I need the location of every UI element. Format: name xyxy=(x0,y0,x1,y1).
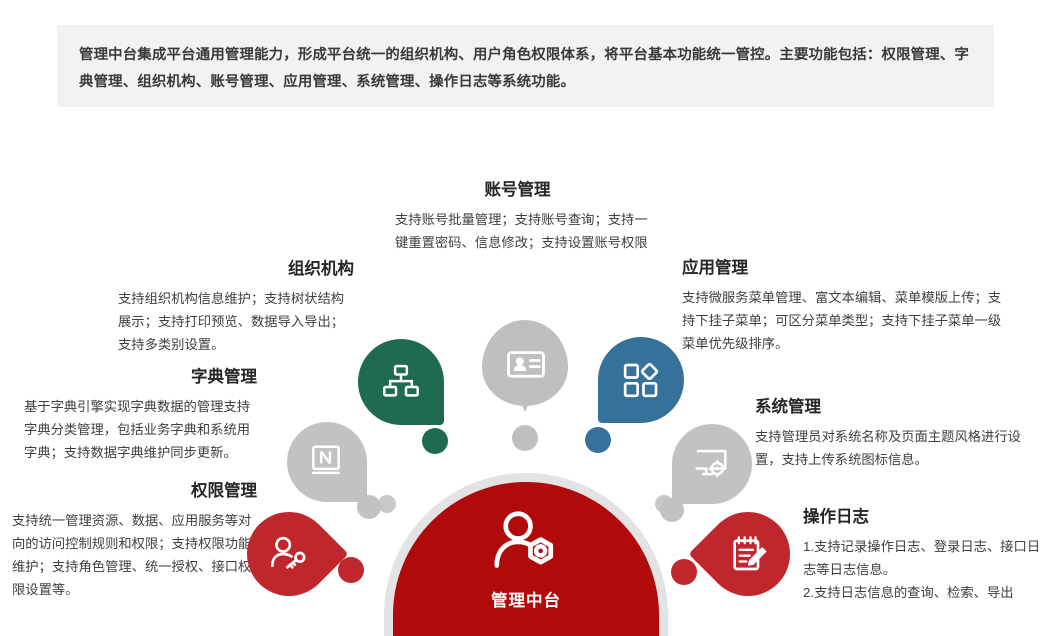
center-label: 管理中台 xyxy=(384,587,668,611)
pin-dict[interactable] xyxy=(287,422,367,502)
module-text-account: 账号管理 支持账号批量管理；支持账号查询；支持一键重置密码、信息修改；支持设置账… xyxy=(385,178,650,254)
module-body-log-line1: 1.支持记录操作日志、登录日志、接口日志等日志信息。 xyxy=(803,535,1049,581)
module-body-dict: 基于字典引擎实现字典数据的管理支持字典分类管理，包括业务字典和系统用字典；支持数… xyxy=(12,395,257,464)
module-title-log: 操作日志 xyxy=(803,505,1049,529)
module-text-perm: 权限管理 支持统一管理资源、数据、应用服务等对向的访问控制规则和权限；支持权限功… xyxy=(12,479,257,601)
module-text-app: 应用管理 支持微服务菜单管理、富文本编辑、菜单模版上传；支持下挂子菜单；可区分菜… xyxy=(682,256,1002,355)
module-body-system: 支持管理员对系统名称及页面主题风格进行设置，支持上传系统图标信息。 xyxy=(755,425,1035,471)
apps-grid-icon xyxy=(621,360,661,400)
module-title-dict: 字典管理 xyxy=(12,365,257,389)
module-text-system: 系统管理 支持管理员对系统名称及页面主题风格进行设置，支持上传系统图标信息。 xyxy=(755,395,1035,471)
notepad-pencil-icon xyxy=(728,534,768,574)
infographic-page: 管理中台集成平台通用管理能力，形成平台统一的组织机构、用户角色权限体系，将平台基… xyxy=(0,0,1051,636)
module-body-log-line2: 2.支持日志信息的查询、检索、导出 xyxy=(803,581,1049,604)
pin-account[interactable] xyxy=(482,320,568,406)
module-title-app: 应用管理 xyxy=(682,256,1002,280)
org-tree-icon xyxy=(381,362,421,402)
book-icon xyxy=(307,442,347,482)
user-key-icon xyxy=(269,534,309,574)
module-title-perm: 权限管理 xyxy=(12,479,257,503)
module-body-account: 支持账号批量管理；支持账号查询；支持一键重置密码、信息修改；支持设置账号权限 xyxy=(385,208,650,254)
module-body-perm: 支持统一管理资源、数据、应用服务等对向的访问控制规则和权限；支持权限功能维护；支… xyxy=(12,509,257,601)
pin-dot-perm xyxy=(338,557,364,583)
pin-dot-dict xyxy=(357,495,381,519)
intro-text: 管理中台集成平台通用管理能力，形成平台统一的组织机构、用户角色权限体系，将平台基… xyxy=(79,42,972,96)
module-body-app: 支持微服务菜单管理、富文本编辑、菜单模版上传；支持下挂子菜单；可区分菜单类型；支… xyxy=(682,286,1002,355)
module-text-log: 操作日志 1.支持记录操作日志、登录日志、接口日志等日志信息。 2.支持日志信息… xyxy=(803,505,1049,604)
pin-system[interactable] xyxy=(672,424,752,504)
pin-dot-account xyxy=(512,425,538,451)
pin-dot-log xyxy=(671,559,697,585)
monitor-gear-icon xyxy=(692,444,732,484)
user-gear-icon xyxy=(490,507,562,579)
pin-dot-org xyxy=(422,428,448,454)
module-text-dict: 字典管理 基于字典引擎实现字典数据的管理支持字典分类管理，包括业务字典和系统用字… xyxy=(12,365,257,464)
intro-banner: 管理中台集成平台通用管理能力，形成平台统一的组织机构、用户角色权限体系，将平台基… xyxy=(57,25,994,107)
module-text-org: 组织机构 支持组织机构信息维护；支持树状结构展示；支持打印预览、数据导入导出；支… xyxy=(104,257,354,356)
center-node[interactable]: 管理中台 xyxy=(384,473,668,636)
pin-dot-system xyxy=(660,498,684,522)
module-title-account: 账号管理 xyxy=(385,178,650,202)
module-body-org: 支持组织机构信息维护；支持树状结构展示；支持打印预览、数据导入导出；支持多类别设… xyxy=(104,287,354,356)
module-title-org: 组织机构 xyxy=(104,257,354,281)
pin-tail-account xyxy=(512,382,538,412)
id-card-icon xyxy=(505,343,545,383)
pin-org[interactable] xyxy=(358,339,444,425)
pin-app[interactable] xyxy=(598,337,684,423)
pin-log[interactable] xyxy=(706,512,790,596)
module-title-system: 系统管理 xyxy=(755,395,1035,419)
pin-perm[interactable] xyxy=(247,512,331,596)
pin-dot-app xyxy=(585,427,611,453)
